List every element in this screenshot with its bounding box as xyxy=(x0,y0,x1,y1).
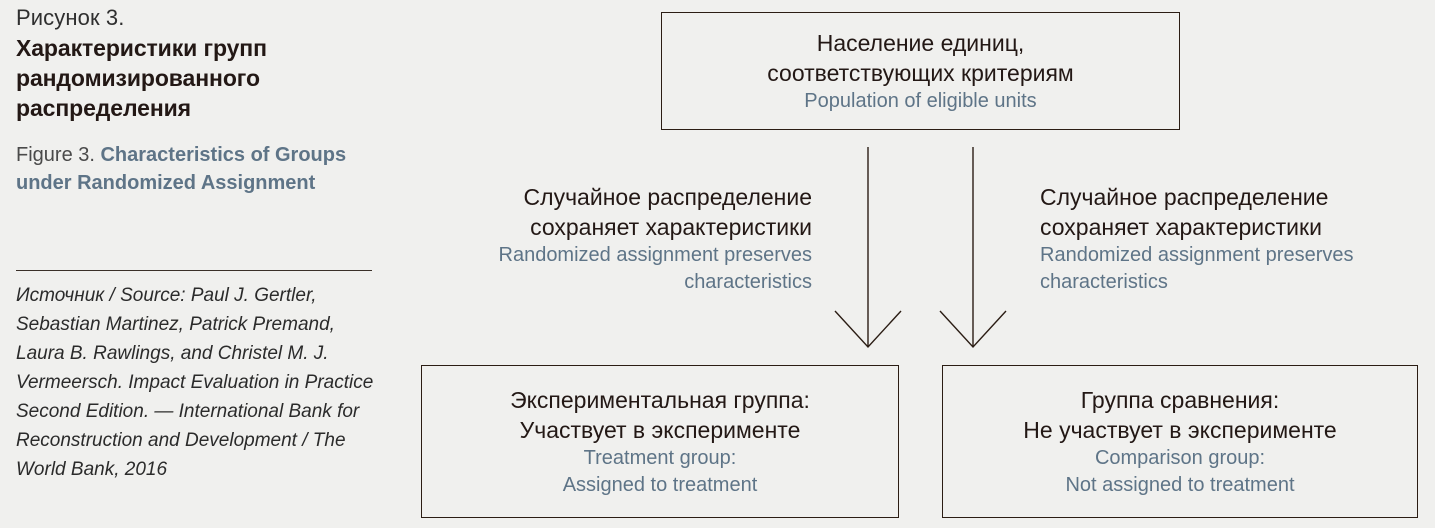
node-population-label-ru: Население единиц, соответствующих критер… xyxy=(767,28,1073,88)
figure-number-en: Figure 3. xyxy=(16,144,100,166)
node-treatment-label-en: Treatment group: Assigned to treatment xyxy=(563,445,758,499)
caption-divider xyxy=(16,270,372,271)
node-comparison-label-ru: Группа сравнения: Не участвует в экспери… xyxy=(1023,385,1336,445)
node-treatment-group: Экспериментальная группа: Участвует в эк… xyxy=(421,365,899,518)
arrow-to-treatment xyxy=(835,147,901,347)
node-treatment-label-ru: Экспериментальная группа: Участвует в эк… xyxy=(510,385,810,445)
node-comparison-group: Группа сравнения: Не участвует в экспери… xyxy=(942,365,1418,518)
figure-title-ru: Характеристики групп рандомизированного … xyxy=(16,33,378,123)
node-population-of-eligible-units: Население единиц, соответствующих критер… xyxy=(661,12,1180,130)
arrow-label-right-ru: Случайное распределение сохраняет характ… xyxy=(1040,182,1435,242)
figure-caption-block: Рисунок 3. Характеристики групп рандомиз… xyxy=(16,4,378,197)
arrow-label-left: Случайное распределение сохраняет характ… xyxy=(420,182,812,296)
arrow-label-right-en: Randomized assignment preserves characte… xyxy=(1040,242,1435,296)
figure-number-ru: Рисунок 3. xyxy=(16,4,378,32)
figure-page: Рисунок 3. Характеристики групп рандомиз… xyxy=(0,0,1435,528)
arrow-to-comparison xyxy=(940,147,1006,347)
figure-caption-en: Figure 3. Characteristics of Groups unde… xyxy=(16,141,378,197)
node-population-label-en: Population of eligible units xyxy=(804,88,1036,115)
figure-source-note: Источник / Source: Paul J. Gertler, Seba… xyxy=(16,281,380,484)
arrow-label-left-ru: Случайное распределение сохраняет характ… xyxy=(420,182,812,242)
arrow-label-right: Случайное распределение сохраняет характ… xyxy=(1040,182,1435,296)
node-comparison-label-en: Comparison group: Not assigned to treatm… xyxy=(1065,445,1294,499)
arrow-label-left-en: Randomized assignment preserves characte… xyxy=(420,242,812,296)
